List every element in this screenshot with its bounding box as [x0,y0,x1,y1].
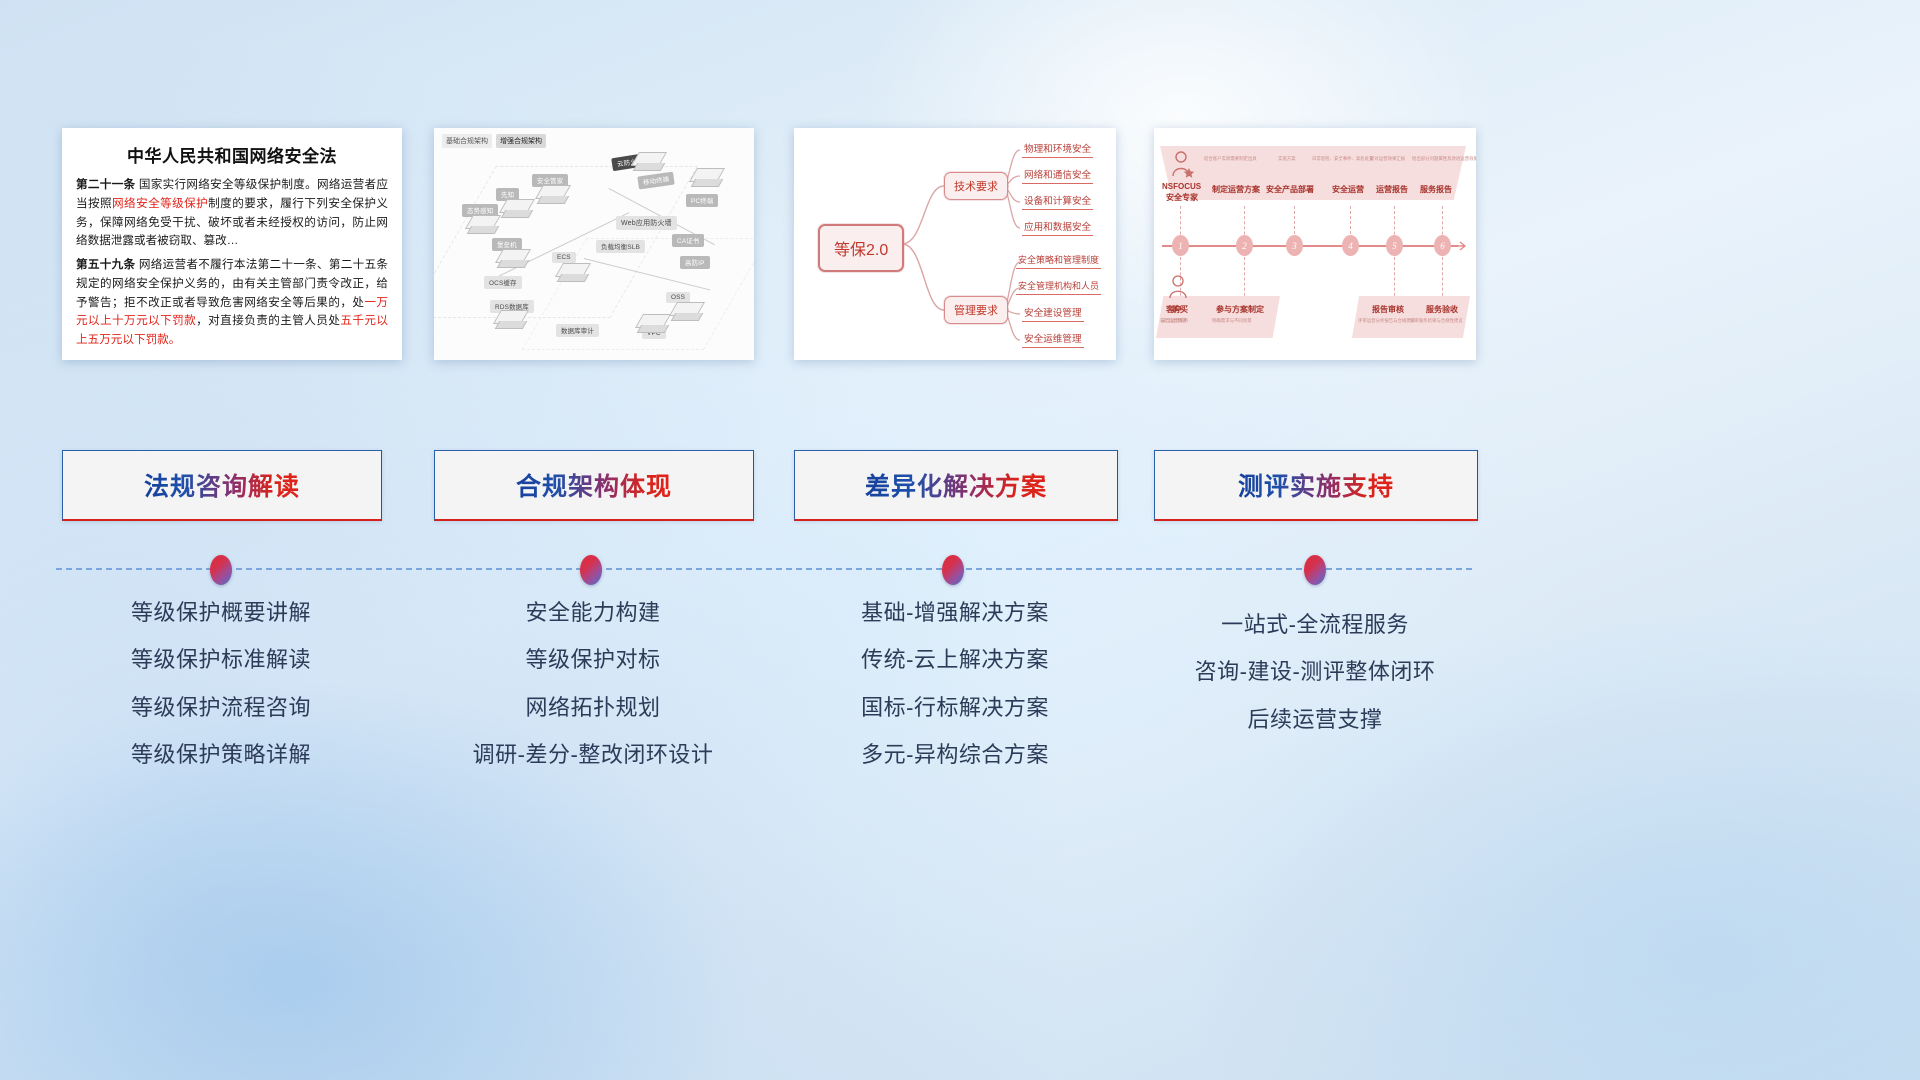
step-number-2: 2 [1236,235,1253,256]
heading-label-assessment-support: 测评实施支持 [1238,467,1394,503]
card-compliance-architecture[interactable]: 基础合规架构 增强合规架构 云防火 安全管家 先知 态势感知 堡垒机 ECS W… [434,128,754,360]
heading-box-differentiated-solution[interactable]: 差异化解决方案 [794,450,1118,521]
mindmap-leaf-device-computing: 设备和计算安全 [1022,193,1093,210]
list-item: 等级保护策略详解 [62,742,380,768]
step-5-top-title: 运营报告 [1376,184,1408,195]
cube-security-butler [534,185,560,203]
step-2-top-caption: 结合客户实际需要制定出具 [1204,156,1257,162]
step-2-bottom-title: 参与方案制定 [1216,304,1264,315]
step-1-bottom-caption: 安全运营服务 [1162,318,1188,324]
step-4-top-title: 安全运营 [1332,184,1364,195]
step-4-top-caption: 日常巡检、安全事件、高危处置 [1312,156,1373,162]
timeline-axis [1162,245,1458,247]
step-2-dash [1244,206,1245,306]
list-item: 国标-行标解决方案 [794,695,1116,721]
preview-cards-row: 中华人民共和国网络安全法 第二十一条 国家实行网络安全等级保护制度。网络运营者应… [0,128,1920,360]
timeline-dot-4[interactable] [1304,555,1326,585]
timeline-dot-3[interactable] [942,555,964,585]
cube-ecs [554,263,580,281]
heading-label-compliance-architecture: 合规架构体现 [516,467,672,503]
step-5-bottom-caption: 评审运营分析报告与合规建议 [1358,318,1415,324]
heading-box-regulation-consulting[interactable]: 法规咨询解读 [62,450,382,521]
chip-ca-certificate: CA证书 [672,234,704,247]
cube-pc-terminal [688,168,714,186]
mindmap-leaf-security-org: 安全管理机构和人员 [1016,279,1101,295]
card-cybersecurity-law[interactable]: 中华人民共和国网络安全法 第二十一条 国家实行网络安全等级保护制度。网络运营者应… [62,128,402,360]
law-article-59: 第五十九条 网络运营者不履行本法第二十一条、第二十五条规定的网络安全保护义务的，… [76,256,388,350]
step-3-top-title: 安全产品部署 [1266,184,1314,195]
timeline-arrow-icon [1454,240,1468,252]
list-column-compliance-architecture: 安全能力构建 等级保护对标 网络拓扑规划 调研-差分-整改闭环设计 [434,600,752,790]
headings-row: 法规咨询解读 合规架构体现 差异化解决方案 测评实施支持 [0,450,1920,520]
chip-db-audit: 数据库审计 [556,324,599,337]
mindmap-root: 等保2.0 [818,224,904,272]
list-item: 等级保护标准解读 [62,647,380,673]
architecture-diagram: 基础合规架构 增强合规架构 云防火 安全管家 先知 态势感知 堡垒机 ECS W… [434,128,754,360]
brand-name-label: NSFOCUS [1162,182,1201,191]
heading-label-differentiated-solution: 差异化解决方案 [865,467,1047,503]
heading-box-assessment-support[interactable]: 测评实施支持 [1154,450,1478,521]
heading-box-compliance-architecture[interactable]: 合规架构体现 [434,450,754,521]
chip-slb: 负载均衡SLB [596,240,645,253]
timeline-bottom-band-right [1352,296,1470,338]
mindmap-branch-management: 管理要求 [944,296,1008,324]
list-column-assessment-support: 一站式-全流程服务 咨询-建设-测评整体闭环 后续运营支撑 [1154,600,1476,754]
step-number-6: 6 [1434,235,1451,256]
service-timeline: NSFOCUS 安全专家 结合客户实际需要制定出具 制定运营方案 实施方案 安全… [1154,128,1476,360]
mindmap: 等保2.0 技术要求 管理要求 物理和环境安全 网络和通信安全 设备和计算安全 … [794,128,1116,360]
cube-foresight [498,199,524,217]
list-item: 基础-增强解决方案 [794,600,1116,626]
step-6-dash [1442,206,1443,306]
step-6-top-title: 服务报告 [1420,184,1452,195]
progress-timeline [56,568,1472,572]
cube-bastion-host [494,249,520,267]
list-item: 网络拓扑规划 [434,695,752,721]
chip-ocs-cache: OCS缓存 [484,276,522,289]
step-2-top-title: 制定运营方案 [1212,184,1260,195]
step-number-5: 5 [1386,235,1403,256]
architecture-tabs: 基础合规架构 增强合规架构 [442,134,546,148]
cube-situational-awareness [464,215,490,233]
timeline-dot-1[interactable] [210,555,232,585]
brand-role-label: 安全专家 [1166,192,1198,203]
list-item: 咨询-建设-测评整体闭环 [1154,659,1476,685]
list-item: 安全能力构建 [434,600,752,626]
tab-basic-architecture[interactable]: 基础合规架构 [442,134,492,148]
article-59-text-b: ，对直接负责的主管人员处 [196,314,340,327]
mindmap-leaf-physical-environment: 物理和环境安全 [1022,141,1093,158]
article-21-label: 第二十一条 [76,178,135,191]
list-item: 一站式-全流程服务 [1154,612,1476,638]
chip-anti-ddos-ip: 高防IP [680,256,710,269]
list-item: 等级保护流程咨询 [62,695,380,721]
list-item: 多元-异构综合方案 [794,742,1116,768]
mindmap-leaf-security-policy: 安全策略和管理制度 [1016,253,1101,269]
heading-label-regulation-consulting: 法规咨询解读 [144,467,300,503]
expert-person-icon [1168,150,1198,180]
step-5-top-caption: 针对运营效果汇报 [1370,156,1405,162]
mindmap-leaf-construction-mgmt: 安全建设管理 [1022,305,1084,322]
step-6-bottom-title: 服务验收 [1426,304,1458,315]
cube-vpc [634,314,660,332]
step-1-bottom-title: 购买 [1172,304,1188,315]
mindmap-branch-technical: 技术要求 [944,172,1008,200]
list-item: 等级保护概要讲解 [62,600,380,626]
law-article-21: 第二十一条 国家实行网络安全等级保护制度。网络运营者应当按照网络安全等级保护制度… [76,176,388,251]
list-item: 传统-云上解决方案 [794,647,1116,673]
step-number-1: 1 [1172,235,1189,256]
step-3-top-caption: 实施方案 [1278,156,1296,162]
list-item: 后续运营支撑 [1154,707,1476,733]
article-59-label: 第五十九条 [76,258,135,271]
list-column-differentiated-solution: 基础-增强解决方案 传统-云上解决方案 国标-行标解决方案 多元-异构综合方案 [794,600,1116,790]
list-item: 等级保护对标 [434,647,752,673]
card-mindmap-dengbao[interactable]: 等保2.0 技术要求 管理要求 物理和环境安全 网络和通信安全 设备和计算安全 … [794,128,1116,360]
step-6-top-caption: 给出部分问题属性及改进运营效果 [1412,156,1476,162]
chip-pc-terminal: PC终端 [686,194,718,207]
timeline-bottom-band-left [1156,296,1280,338]
card-nsfocus-timeline[interactable]: NSFOCUS 安全专家 结合客户实际需要制定出具 制定运营方案 实施方案 安全… [1154,128,1476,360]
law-title: 中华人民共和国网络安全法 [76,142,388,167]
step-5-dash [1394,206,1395,306]
step-6-bottom-caption: 评审服务结果与合规性建议 [1410,318,1463,324]
list-column-regulation-consulting: 等级保护概要讲解 等级保护标准解读 等级保护流程咨询 等级保护策略详解 [62,600,380,790]
step-number-4: 4 [1342,235,1359,256]
mindmap-leaf-network-communication: 网络和通信安全 [1022,167,1093,184]
mindmap-leaf-operation-mgmt: 安全运维管理 [1022,331,1084,348]
step-5-bottom-title: 报告审核 [1372,304,1404,315]
article-21-highlight: 网络安全等级保护 [112,197,208,210]
cube-rds-database [492,310,518,328]
mindmap-leaf-application-data: 应用和数据安全 [1022,219,1093,236]
customer-person-icon [1166,274,1194,300]
list-item: 调研-差分-整改闭环设计 [434,742,752,768]
timeline-dot-2[interactable] [580,555,602,585]
step-2-bottom-caption: 明确需求与不同场景 [1212,318,1252,324]
cube-mobile-terminal [630,152,656,170]
cube-oss [668,302,694,320]
chip-ecs: ECS [552,252,576,263]
chip-web-waf: Web应用防火墙 [616,216,677,230]
tab-enhanced-architecture[interactable]: 增强合规架构 [496,134,546,148]
step-number-3: 3 [1286,235,1303,256]
